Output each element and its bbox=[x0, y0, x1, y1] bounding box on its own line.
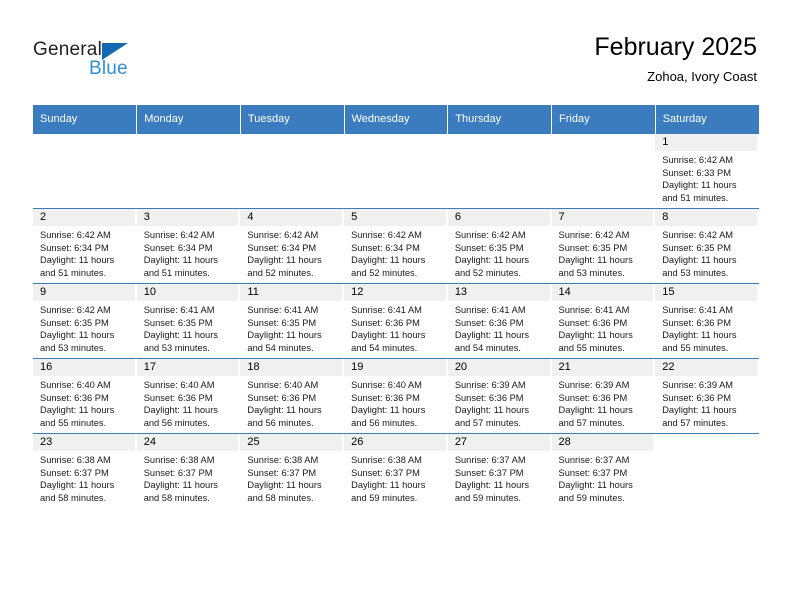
sunrise-text: Sunrise: 6:38 AM bbox=[40, 454, 131, 467]
calendar-week-row: 9Sunrise: 6:42 AMSunset: 6:35 PMDaylight… bbox=[33, 284, 759, 359]
calendar-cell-day[interactable]: 17Sunrise: 6:40 AMSunset: 6:36 PMDayligh… bbox=[137, 359, 241, 434]
calendar-week-row: 1Sunrise: 6:42 AMSunset: 6:33 PMDaylight… bbox=[33, 134, 759, 209]
sunset-text: Sunset: 6:36 PM bbox=[351, 392, 442, 405]
calendar-cell-day[interactable]: 27Sunrise: 6:37 AMSunset: 6:37 PMDayligh… bbox=[448, 434, 552, 509]
sunrise-text: Sunrise: 6:40 AM bbox=[144, 379, 235, 392]
sunrise-text: Sunrise: 6:38 AM bbox=[144, 454, 235, 467]
day-cell: 12Sunrise: 6:41 AMSunset: 6:36 PMDayligh… bbox=[344, 284, 448, 358]
day-cell: 20Sunrise: 6:39 AMSunset: 6:36 PMDayligh… bbox=[448, 359, 552, 433]
calendar-cell-empty bbox=[137, 134, 241, 209]
weekday-header-saturday: Saturday bbox=[655, 105, 759, 134]
calendar-cell-day[interactable]: 3Sunrise: 6:42 AMSunset: 6:34 PMDaylight… bbox=[137, 209, 241, 284]
day-number: 1 bbox=[655, 134, 759, 151]
calendar-cell-day[interactable]: 26Sunrise: 6:38 AMSunset: 6:37 PMDayligh… bbox=[344, 434, 448, 509]
sunset-text: Sunset: 6:34 PM bbox=[247, 242, 338, 255]
sunrise-text: Sunrise: 6:42 AM bbox=[662, 154, 753, 167]
day-cell: 8Sunrise: 6:42 AMSunset: 6:35 PMDaylight… bbox=[655, 209, 759, 283]
sunrise-text: Sunrise: 6:41 AM bbox=[144, 304, 235, 317]
calendar-cell-day[interactable]: 14Sunrise: 6:41 AMSunset: 6:36 PMDayligh… bbox=[552, 284, 656, 359]
calendar-cell-day[interactable]: 1Sunrise: 6:42 AMSunset: 6:33 PMDaylight… bbox=[655, 134, 759, 209]
day-number: 18 bbox=[240, 359, 344, 376]
sunset-text: Sunset: 6:36 PM bbox=[662, 317, 753, 330]
daylight-text: Daylight: 11 hours and 54 minutes. bbox=[351, 329, 442, 354]
calendar-cell-day[interactable]: 20Sunrise: 6:39 AMSunset: 6:36 PMDayligh… bbox=[448, 359, 552, 434]
sunrise-text: Sunrise: 6:42 AM bbox=[40, 229, 131, 242]
day-number: 4 bbox=[240, 209, 344, 226]
calendar-table: Sunday Monday Tuesday Wednesday Thursday… bbox=[33, 105, 759, 508]
daylight-text: Daylight: 11 hours and 58 minutes. bbox=[40, 479, 131, 504]
day-details: Sunrise: 6:40 AMSunset: 6:36 PMDaylight:… bbox=[33, 376, 137, 429]
sunset-text: Sunset: 6:37 PM bbox=[144, 467, 235, 480]
page-subtitle: Zohoa, Ivory Coast bbox=[594, 68, 757, 86]
calendar-header-row: Sunday Monday Tuesday Wednesday Thursday… bbox=[33, 105, 759, 134]
day-cell: 9Sunrise: 6:42 AMSunset: 6:35 PMDaylight… bbox=[33, 284, 137, 358]
day-details: Sunrise: 6:38 AMSunset: 6:37 PMDaylight:… bbox=[344, 451, 448, 504]
day-cell: 4Sunrise: 6:42 AMSunset: 6:34 PMDaylight… bbox=[240, 209, 344, 283]
day-cell: 2Sunrise: 6:42 AMSunset: 6:34 PMDaylight… bbox=[33, 209, 137, 283]
day-number bbox=[448, 134, 552, 151]
day-number: 6 bbox=[448, 209, 552, 226]
day-number bbox=[240, 134, 344, 151]
sunset-text: Sunset: 6:36 PM bbox=[455, 392, 546, 405]
sunrise-text: Sunrise: 6:42 AM bbox=[662, 229, 753, 242]
day-details: Sunrise: 6:41 AMSunset: 6:36 PMDaylight:… bbox=[344, 301, 448, 354]
day-cell: 17Sunrise: 6:40 AMSunset: 6:36 PMDayligh… bbox=[137, 359, 241, 433]
sunset-text: Sunset: 6:35 PM bbox=[40, 317, 131, 330]
sunset-text: Sunset: 6:36 PM bbox=[559, 317, 650, 330]
calendar-page: General Blue February 2025 Zohoa, Ivory … bbox=[0, 0, 792, 612]
day-details: Sunrise: 6:40 AMSunset: 6:36 PMDaylight:… bbox=[240, 376, 344, 429]
title-block: February 2025 Zohoa, Ivory Coast bbox=[594, 32, 757, 86]
day-number: 24 bbox=[137, 434, 241, 451]
daylight-text: Daylight: 11 hours and 52 minutes. bbox=[351, 254, 442, 279]
day-cell bbox=[448, 134, 552, 208]
day-details: Sunrise: 6:41 AMSunset: 6:36 PMDaylight:… bbox=[448, 301, 552, 354]
calendar-week-row: 2Sunrise: 6:42 AMSunset: 6:34 PMDaylight… bbox=[33, 209, 759, 284]
sunrise-text: Sunrise: 6:42 AM bbox=[40, 304, 131, 317]
day-cell: 16Sunrise: 6:40 AMSunset: 6:36 PMDayligh… bbox=[33, 359, 137, 433]
day-cell bbox=[344, 134, 448, 208]
day-cell: 27Sunrise: 6:37 AMSunset: 6:37 PMDayligh… bbox=[448, 434, 552, 508]
calendar-cell-empty bbox=[240, 134, 344, 209]
calendar-cell-day[interactable]: 16Sunrise: 6:40 AMSunset: 6:36 PMDayligh… bbox=[33, 359, 137, 434]
day-details: Sunrise: 6:42 AMSunset: 6:34 PMDaylight:… bbox=[344, 226, 448, 279]
calendar-cell-day[interactable]: 18Sunrise: 6:40 AMSunset: 6:36 PMDayligh… bbox=[240, 359, 344, 434]
day-details: Sunrise: 6:38 AMSunset: 6:37 PMDaylight:… bbox=[137, 451, 241, 504]
weekday-header-thursday: Thursday bbox=[448, 105, 552, 134]
daylight-text: Daylight: 11 hours and 56 minutes. bbox=[351, 404, 442, 429]
day-cell: 25Sunrise: 6:38 AMSunset: 6:37 PMDayligh… bbox=[240, 434, 344, 508]
day-cell: 14Sunrise: 6:41 AMSunset: 6:36 PMDayligh… bbox=[552, 284, 656, 358]
day-number: 25 bbox=[240, 434, 344, 451]
day-number: 27 bbox=[448, 434, 552, 451]
sunrise-text: Sunrise: 6:37 AM bbox=[559, 454, 650, 467]
day-details: Sunrise: 6:37 AMSunset: 6:37 PMDaylight:… bbox=[552, 451, 656, 504]
day-details: Sunrise: 6:42 AMSunset: 6:35 PMDaylight:… bbox=[33, 301, 137, 354]
day-number: 8 bbox=[655, 209, 759, 226]
day-number bbox=[137, 134, 241, 151]
day-cell: 13Sunrise: 6:41 AMSunset: 6:36 PMDayligh… bbox=[448, 284, 552, 358]
day-number bbox=[552, 134, 656, 151]
day-number: 2 bbox=[33, 209, 137, 226]
day-cell: 3Sunrise: 6:42 AMSunset: 6:34 PMDaylight… bbox=[137, 209, 241, 283]
day-details: Sunrise: 6:42 AMSunset: 6:33 PMDaylight:… bbox=[655, 151, 759, 204]
day-cell bbox=[552, 134, 656, 208]
day-number bbox=[344, 134, 448, 151]
calendar-cell-empty bbox=[344, 134, 448, 209]
sunrise-text: Sunrise: 6:42 AM bbox=[455, 229, 546, 242]
day-cell: 23Sunrise: 6:38 AMSunset: 6:37 PMDayligh… bbox=[33, 434, 137, 508]
day-number: 21 bbox=[552, 359, 656, 376]
calendar-cell-empty bbox=[655, 434, 759, 509]
daylight-text: Daylight: 11 hours and 51 minutes. bbox=[662, 179, 753, 204]
calendar-cell-day[interactable]: 22Sunrise: 6:39 AMSunset: 6:36 PMDayligh… bbox=[655, 359, 759, 434]
daylight-text: Daylight: 11 hours and 54 minutes. bbox=[455, 329, 546, 354]
logo-text-blue: Blue bbox=[89, 58, 128, 80]
sunrise-text: Sunrise: 6:39 AM bbox=[662, 379, 753, 392]
daylight-text: Daylight: 11 hours and 55 minutes. bbox=[559, 329, 650, 354]
day-number: 26 bbox=[344, 434, 448, 451]
sunrise-text: Sunrise: 6:40 AM bbox=[40, 379, 131, 392]
sunrise-text: Sunrise: 6:38 AM bbox=[247, 454, 338, 467]
calendar-week-row: 23Sunrise: 6:38 AMSunset: 6:37 PMDayligh… bbox=[33, 434, 759, 509]
sunrise-text: Sunrise: 6:37 AM bbox=[455, 454, 546, 467]
day-number: 19 bbox=[344, 359, 448, 376]
sunset-text: Sunset: 6:36 PM bbox=[559, 392, 650, 405]
day-number bbox=[655, 434, 759, 451]
calendar-cell-day[interactable]: 9Sunrise: 6:42 AMSunset: 6:35 PMDaylight… bbox=[33, 284, 137, 359]
sunrise-text: Sunrise: 6:39 AM bbox=[559, 379, 650, 392]
daylight-text: Daylight: 11 hours and 58 minutes. bbox=[144, 479, 235, 504]
weekday-header-monday: Monday bbox=[137, 105, 241, 134]
day-number: 12 bbox=[344, 284, 448, 301]
daylight-text: Daylight: 11 hours and 59 minutes. bbox=[351, 479, 442, 504]
sunset-text: Sunset: 6:35 PM bbox=[247, 317, 338, 330]
day-number: 10 bbox=[137, 284, 241, 301]
day-details: Sunrise: 6:38 AMSunset: 6:37 PMDaylight:… bbox=[240, 451, 344, 504]
day-details: Sunrise: 6:41 AMSunset: 6:35 PMDaylight:… bbox=[137, 301, 241, 354]
daylight-text: Daylight: 11 hours and 56 minutes. bbox=[144, 404, 235, 429]
daylight-text: Daylight: 11 hours and 56 minutes. bbox=[247, 404, 338, 429]
calendar-cell-day[interactable]: 28Sunrise: 6:37 AMSunset: 6:37 PMDayligh… bbox=[552, 434, 656, 509]
day-number: 20 bbox=[448, 359, 552, 376]
calendar-cell-day[interactable]: 19Sunrise: 6:40 AMSunset: 6:36 PMDayligh… bbox=[344, 359, 448, 434]
day-cell: 10Sunrise: 6:41 AMSunset: 6:35 PMDayligh… bbox=[137, 284, 241, 358]
sunrise-text: Sunrise: 6:39 AM bbox=[455, 379, 546, 392]
sunset-text: Sunset: 6:35 PM bbox=[662, 242, 753, 255]
daylight-text: Daylight: 11 hours and 55 minutes. bbox=[40, 404, 131, 429]
day-cell: 7Sunrise: 6:42 AMSunset: 6:35 PMDaylight… bbox=[552, 209, 656, 283]
sunrise-text: Sunrise: 6:40 AM bbox=[247, 379, 338, 392]
day-details: Sunrise: 6:41 AMSunset: 6:36 PMDaylight:… bbox=[552, 301, 656, 354]
day-details: Sunrise: 6:41 AMSunset: 6:36 PMDaylight:… bbox=[655, 301, 759, 354]
daylight-text: Daylight: 11 hours and 57 minutes. bbox=[662, 404, 753, 429]
calendar-cell-day[interactable]: 6Sunrise: 6:42 AMSunset: 6:35 PMDaylight… bbox=[448, 209, 552, 284]
sunset-text: Sunset: 6:36 PM bbox=[455, 317, 546, 330]
daylight-text: Daylight: 11 hours and 53 minutes. bbox=[40, 329, 131, 354]
day-details: Sunrise: 6:39 AMSunset: 6:36 PMDaylight:… bbox=[448, 376, 552, 429]
calendar-cell-day[interactable]: 4Sunrise: 6:42 AMSunset: 6:34 PMDaylight… bbox=[240, 209, 344, 284]
sunset-text: Sunset: 6:35 PM bbox=[144, 317, 235, 330]
calendar-cell-day[interactable]: 21Sunrise: 6:39 AMSunset: 6:36 PMDayligh… bbox=[552, 359, 656, 434]
day-details: Sunrise: 6:40 AMSunset: 6:36 PMDaylight:… bbox=[344, 376, 448, 429]
calendar-cell-day[interactable]: 12Sunrise: 6:41 AMSunset: 6:36 PMDayligh… bbox=[344, 284, 448, 359]
day-cell: 21Sunrise: 6:39 AMSunset: 6:36 PMDayligh… bbox=[552, 359, 656, 433]
day-number: 3 bbox=[137, 209, 241, 226]
weekday-header-wednesday: Wednesday bbox=[344, 105, 448, 134]
daylight-text: Daylight: 11 hours and 57 minutes. bbox=[455, 404, 546, 429]
day-cell: 22Sunrise: 6:39 AMSunset: 6:36 PMDayligh… bbox=[655, 359, 759, 433]
calendar-cell-day[interactable]: 11Sunrise: 6:41 AMSunset: 6:35 PMDayligh… bbox=[240, 284, 344, 359]
sunset-text: Sunset: 6:34 PM bbox=[144, 242, 235, 255]
general-blue-logo[interactable]: General Blue bbox=[33, 39, 163, 85]
sunset-text: Sunset: 6:34 PM bbox=[40, 242, 131, 255]
calendar-cell-empty bbox=[552, 134, 656, 209]
calendar-cell-day[interactable]: 10Sunrise: 6:41 AMSunset: 6:35 PMDayligh… bbox=[137, 284, 241, 359]
daylight-text: Daylight: 11 hours and 59 minutes. bbox=[559, 479, 650, 504]
day-number: 14 bbox=[552, 284, 656, 301]
sunset-text: Sunset: 6:37 PM bbox=[247, 467, 338, 480]
day-number: 17 bbox=[137, 359, 241, 376]
day-cell: 26Sunrise: 6:38 AMSunset: 6:37 PMDayligh… bbox=[344, 434, 448, 508]
calendar-cell-day[interactable]: 7Sunrise: 6:42 AMSunset: 6:35 PMDaylight… bbox=[552, 209, 656, 284]
day-details: Sunrise: 6:42 AMSunset: 6:35 PMDaylight:… bbox=[552, 226, 656, 279]
calendar-cell-day[interactable]: 2Sunrise: 6:42 AMSunset: 6:34 PMDaylight… bbox=[33, 209, 137, 284]
calendar-cell-day[interactable]: 5Sunrise: 6:42 AMSunset: 6:34 PMDaylight… bbox=[344, 209, 448, 284]
daylight-text: Daylight: 11 hours and 59 minutes. bbox=[455, 479, 546, 504]
day-number: 23 bbox=[33, 434, 137, 451]
day-cell: 18Sunrise: 6:40 AMSunset: 6:36 PMDayligh… bbox=[240, 359, 344, 433]
day-details: Sunrise: 6:39 AMSunset: 6:36 PMDaylight:… bbox=[655, 376, 759, 429]
page-title: February 2025 bbox=[594, 32, 757, 62]
daylight-text: Daylight: 11 hours and 52 minutes. bbox=[247, 254, 338, 279]
day-number: 5 bbox=[344, 209, 448, 226]
day-number: 7 bbox=[552, 209, 656, 226]
weekday-header-sunday: Sunday bbox=[33, 105, 137, 134]
page-header: General Blue February 2025 Zohoa, Ivory … bbox=[0, 0, 792, 104]
sunrise-text: Sunrise: 6:41 AM bbox=[559, 304, 650, 317]
sunset-text: Sunset: 6:33 PM bbox=[662, 167, 753, 180]
sunrise-text: Sunrise: 6:42 AM bbox=[351, 229, 442, 242]
day-details: Sunrise: 6:40 AMSunset: 6:36 PMDaylight:… bbox=[137, 376, 241, 429]
day-details: Sunrise: 6:42 AMSunset: 6:35 PMDaylight:… bbox=[655, 226, 759, 279]
day-cell bbox=[240, 134, 344, 208]
daylight-text: Daylight: 11 hours and 52 minutes. bbox=[455, 254, 546, 279]
day-cell: 28Sunrise: 6:37 AMSunset: 6:37 PMDayligh… bbox=[552, 434, 656, 508]
calendar-cell-day[interactable]: 15Sunrise: 6:41 AMSunset: 6:36 PMDayligh… bbox=[655, 284, 759, 359]
weekday-header-friday: Friday bbox=[552, 105, 656, 134]
day-number bbox=[33, 134, 137, 151]
sunset-text: Sunset: 6:35 PM bbox=[559, 242, 650, 255]
daylight-text: Daylight: 11 hours and 54 minutes. bbox=[247, 329, 338, 354]
sunset-text: Sunset: 6:37 PM bbox=[351, 467, 442, 480]
sunrise-text: Sunrise: 6:40 AM bbox=[351, 379, 442, 392]
daylight-text: Daylight: 11 hours and 55 minutes. bbox=[662, 329, 753, 354]
day-number: 28 bbox=[552, 434, 656, 451]
sunset-text: Sunset: 6:36 PM bbox=[662, 392, 753, 405]
sunset-text: Sunset: 6:36 PM bbox=[247, 392, 338, 405]
sunrise-text: Sunrise: 6:42 AM bbox=[247, 229, 338, 242]
day-number: 11 bbox=[240, 284, 344, 301]
day-details: Sunrise: 6:38 AMSunset: 6:37 PMDaylight:… bbox=[33, 451, 137, 504]
day-cell: 15Sunrise: 6:41 AMSunset: 6:36 PMDayligh… bbox=[655, 284, 759, 358]
daylight-text: Daylight: 11 hours and 53 minutes. bbox=[144, 329, 235, 354]
day-number: 13 bbox=[448, 284, 552, 301]
weekday-header-tuesday: Tuesday bbox=[240, 105, 344, 134]
daylight-text: Daylight: 11 hours and 57 minutes. bbox=[559, 404, 650, 429]
day-cell: 11Sunrise: 6:41 AMSunset: 6:35 PMDayligh… bbox=[240, 284, 344, 358]
sunset-text: Sunset: 6:37 PM bbox=[559, 467, 650, 480]
sunrise-text: Sunrise: 6:42 AM bbox=[144, 229, 235, 242]
day-details: Sunrise: 6:42 AMSunset: 6:35 PMDaylight:… bbox=[448, 226, 552, 279]
day-cell: 24Sunrise: 6:38 AMSunset: 6:37 PMDayligh… bbox=[137, 434, 241, 508]
daylight-text: Daylight: 11 hours and 51 minutes. bbox=[144, 254, 235, 279]
sunset-text: Sunset: 6:36 PM bbox=[351, 317, 442, 330]
day-details: Sunrise: 6:42 AMSunset: 6:34 PMDaylight:… bbox=[137, 226, 241, 279]
calendar-cell-day[interactable]: 8Sunrise: 6:42 AMSunset: 6:35 PMDaylight… bbox=[655, 209, 759, 284]
calendar-body: 1Sunrise: 6:42 AMSunset: 6:33 PMDaylight… bbox=[33, 134, 759, 509]
calendar-cell-day[interactable]: 25Sunrise: 6:38 AMSunset: 6:37 PMDayligh… bbox=[240, 434, 344, 509]
daylight-text: Daylight: 11 hours and 58 minutes. bbox=[247, 479, 338, 504]
daylight-text: Daylight: 11 hours and 53 minutes. bbox=[559, 254, 650, 279]
sunset-text: Sunset: 6:37 PM bbox=[40, 467, 131, 480]
day-details: Sunrise: 6:42 AMSunset: 6:34 PMDaylight:… bbox=[240, 226, 344, 279]
calendar-cell-day[interactable]: 23Sunrise: 6:38 AMSunset: 6:37 PMDayligh… bbox=[33, 434, 137, 509]
day-number: 15 bbox=[655, 284, 759, 301]
day-details: Sunrise: 6:37 AMSunset: 6:37 PMDaylight:… bbox=[448, 451, 552, 504]
calendar-week-row: 16Sunrise: 6:40 AMSunset: 6:36 PMDayligh… bbox=[33, 359, 759, 434]
sunset-text: Sunset: 6:35 PM bbox=[455, 242, 546, 255]
day-details: Sunrise: 6:39 AMSunset: 6:36 PMDaylight:… bbox=[552, 376, 656, 429]
calendar-cell-empty bbox=[448, 134, 552, 209]
day-cell bbox=[655, 434, 759, 508]
sunrise-text: Sunrise: 6:42 AM bbox=[559, 229, 650, 242]
sunset-text: Sunset: 6:37 PM bbox=[455, 467, 546, 480]
sunrise-text: Sunrise: 6:41 AM bbox=[662, 304, 753, 317]
day-number: 9 bbox=[33, 284, 137, 301]
day-cell: 19Sunrise: 6:40 AMSunset: 6:36 PMDayligh… bbox=[344, 359, 448, 433]
day-cell: 6Sunrise: 6:42 AMSunset: 6:35 PMDaylight… bbox=[448, 209, 552, 283]
sunrise-text: Sunrise: 6:41 AM bbox=[351, 304, 442, 317]
day-cell bbox=[137, 134, 241, 208]
daylight-text: Daylight: 11 hours and 51 minutes. bbox=[40, 254, 131, 279]
day-details: Sunrise: 6:42 AMSunset: 6:34 PMDaylight:… bbox=[33, 226, 137, 279]
sunrise-text: Sunrise: 6:41 AM bbox=[455, 304, 546, 317]
day-cell: 5Sunrise: 6:42 AMSunset: 6:34 PMDaylight… bbox=[344, 209, 448, 283]
sunrise-text: Sunrise: 6:38 AM bbox=[351, 454, 442, 467]
sunrise-text: Sunrise: 6:41 AM bbox=[247, 304, 338, 317]
sunset-text: Sunset: 6:36 PM bbox=[40, 392, 131, 405]
day-details: Sunrise: 6:41 AMSunset: 6:35 PMDaylight:… bbox=[240, 301, 344, 354]
calendar-cell-empty bbox=[33, 134, 137, 209]
sunset-text: Sunset: 6:34 PM bbox=[351, 242, 442, 255]
sunset-text: Sunset: 6:36 PM bbox=[144, 392, 235, 405]
calendar-cell-day[interactable]: 13Sunrise: 6:41 AMSunset: 6:36 PMDayligh… bbox=[448, 284, 552, 359]
daylight-text: Daylight: 11 hours and 53 minutes. bbox=[662, 254, 753, 279]
day-number: 16 bbox=[33, 359, 137, 376]
calendar-cell-day[interactable]: 24Sunrise: 6:38 AMSunset: 6:37 PMDayligh… bbox=[137, 434, 241, 509]
day-cell bbox=[33, 134, 137, 208]
day-number: 22 bbox=[655, 359, 759, 376]
day-cell: 1Sunrise: 6:42 AMSunset: 6:33 PMDaylight… bbox=[655, 134, 759, 208]
